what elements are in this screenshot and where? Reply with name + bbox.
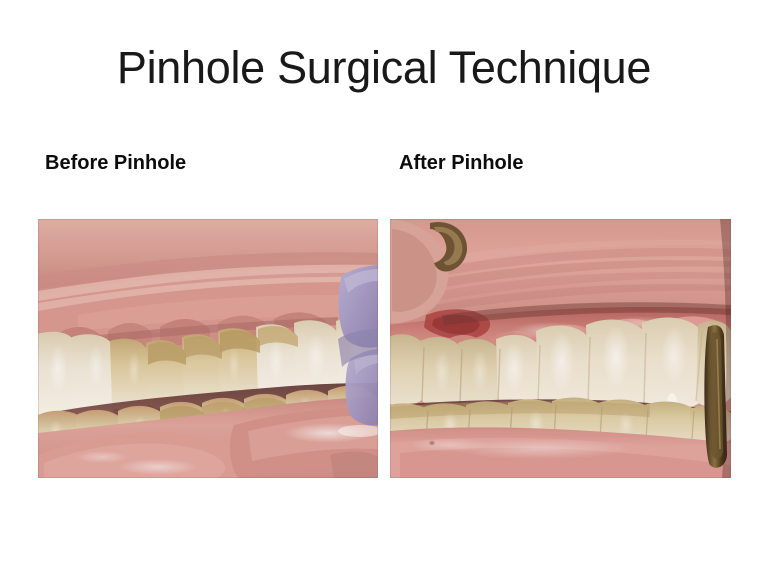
after-photo-artwork: [390, 219, 731, 478]
caption-after-pinhole: After Pinhole: [399, 151, 523, 175]
caption-before-pinhole: Before Pinhole: [45, 151, 186, 175]
page-title: Pinhole Surgical Technique: [0, 42, 768, 94]
intraoral-photo-after-pinhole: [390, 219, 731, 478]
before-photo-artwork: [38, 219, 378, 478]
slide-canvas: Pinhole Surgical Technique Before Pinhol…: [0, 0, 768, 576]
intraoral-photo-before-pinhole: [38, 219, 378, 478]
